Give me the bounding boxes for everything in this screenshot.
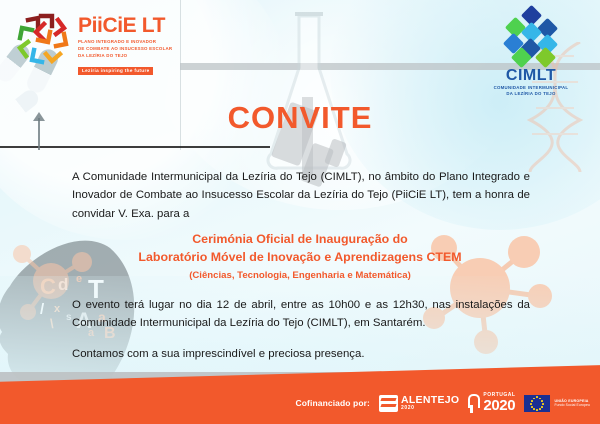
- event-title-block: Cerimónia Oficial de Inauguração do Labo…: [0, 231, 600, 283]
- axis-line-horizontal: [0, 146, 270, 148]
- alentejo-year: 2020: [401, 406, 459, 411]
- piicie-lt-logo: PiiCiE LT PLANO INTEGRADO E INOVADOR DE …: [14, 10, 172, 77]
- funding-logos-row: Cofinanciado por: ALENTEJO 2020 PORTUGAL…: [296, 393, 590, 413]
- telescope-eyepiece: [324, 138, 347, 168]
- alentejo-mark-icon: [379, 395, 398, 412]
- closing-paragraph: Contamos com a sua imprescindível e prec…: [72, 345, 530, 363]
- alentejo-2020-logo: ALENTEJO 2020: [379, 395, 459, 412]
- pinwheel-icon: [14, 10, 72, 68]
- cofinanced-label: Cofinanciado por:: [296, 398, 370, 408]
- piicie-subtitle-line1: PLANO INTEGRADO E INOVADOR: [78, 39, 172, 46]
- piicie-title: PiiCiE LT: [78, 16, 172, 36]
- svg-text:/: /: [40, 301, 45, 318]
- svg-text:\: \: [50, 316, 54, 331]
- eu-line2: Fundo Social Europeu: [554, 403, 590, 407]
- european-union-logo: UNIÃO EUROPEIA Fundo Social Europeu: [524, 395, 590, 412]
- svg-text:x: x: [54, 303, 61, 315]
- cimlt-subtitle-line2: DA LEZÍRIA DO TEJO: [476, 91, 586, 97]
- portugal-year: 2020: [483, 398, 515, 413]
- cimlt-logo: CIMLT COMUNIDADE INTERMUNICIPAL DA LEZÍR…: [476, 8, 586, 98]
- intro-paragraph: A Comunidade Intermunicipal da Lezíria d…: [72, 168, 530, 223]
- piicie-subtitle-line2: DE COMBATE AO INSUCESSO ESCOLAR: [78, 46, 172, 53]
- page-title: CONVITE: [0, 100, 600, 136]
- cimlt-name: CIMLT: [476, 68, 586, 84]
- piicie-tagline: Lezíria inspiring the future: [78, 67, 153, 75]
- portugal-2020-logo: PORTUGAL 2020: [468, 393, 515, 413]
- event-title-line1: Cerimónia Oficial de Inauguração do: [0, 231, 600, 249]
- flask-icon: [255, 12, 363, 172]
- diamond-cluster-icon: [500, 8, 562, 66]
- event-title-line3: (Ciências, Tecnologia, Engenharia e Mate…: [0, 268, 600, 283]
- eu-flag-icon: [524, 395, 550, 412]
- event-title-line2: Laboratório Móvel de Inovação e Aprendiz…: [0, 249, 600, 267]
- piicie-logo-text: PiiCiE LT PLANO INTEGRADO E INOVADOR DE …: [78, 10, 172, 77]
- portugal-mark-icon: [468, 394, 481, 413]
- piicie-subtitle-line3: DA LEZÍRIA DO TEJO: [78, 53, 172, 60]
- event-details-paragraph: O evento terá lugar no dia 12 de abril, …: [72, 296, 530, 333]
- invitation-poster: C d e T / x s A a \ B a: [0, 0, 600, 424]
